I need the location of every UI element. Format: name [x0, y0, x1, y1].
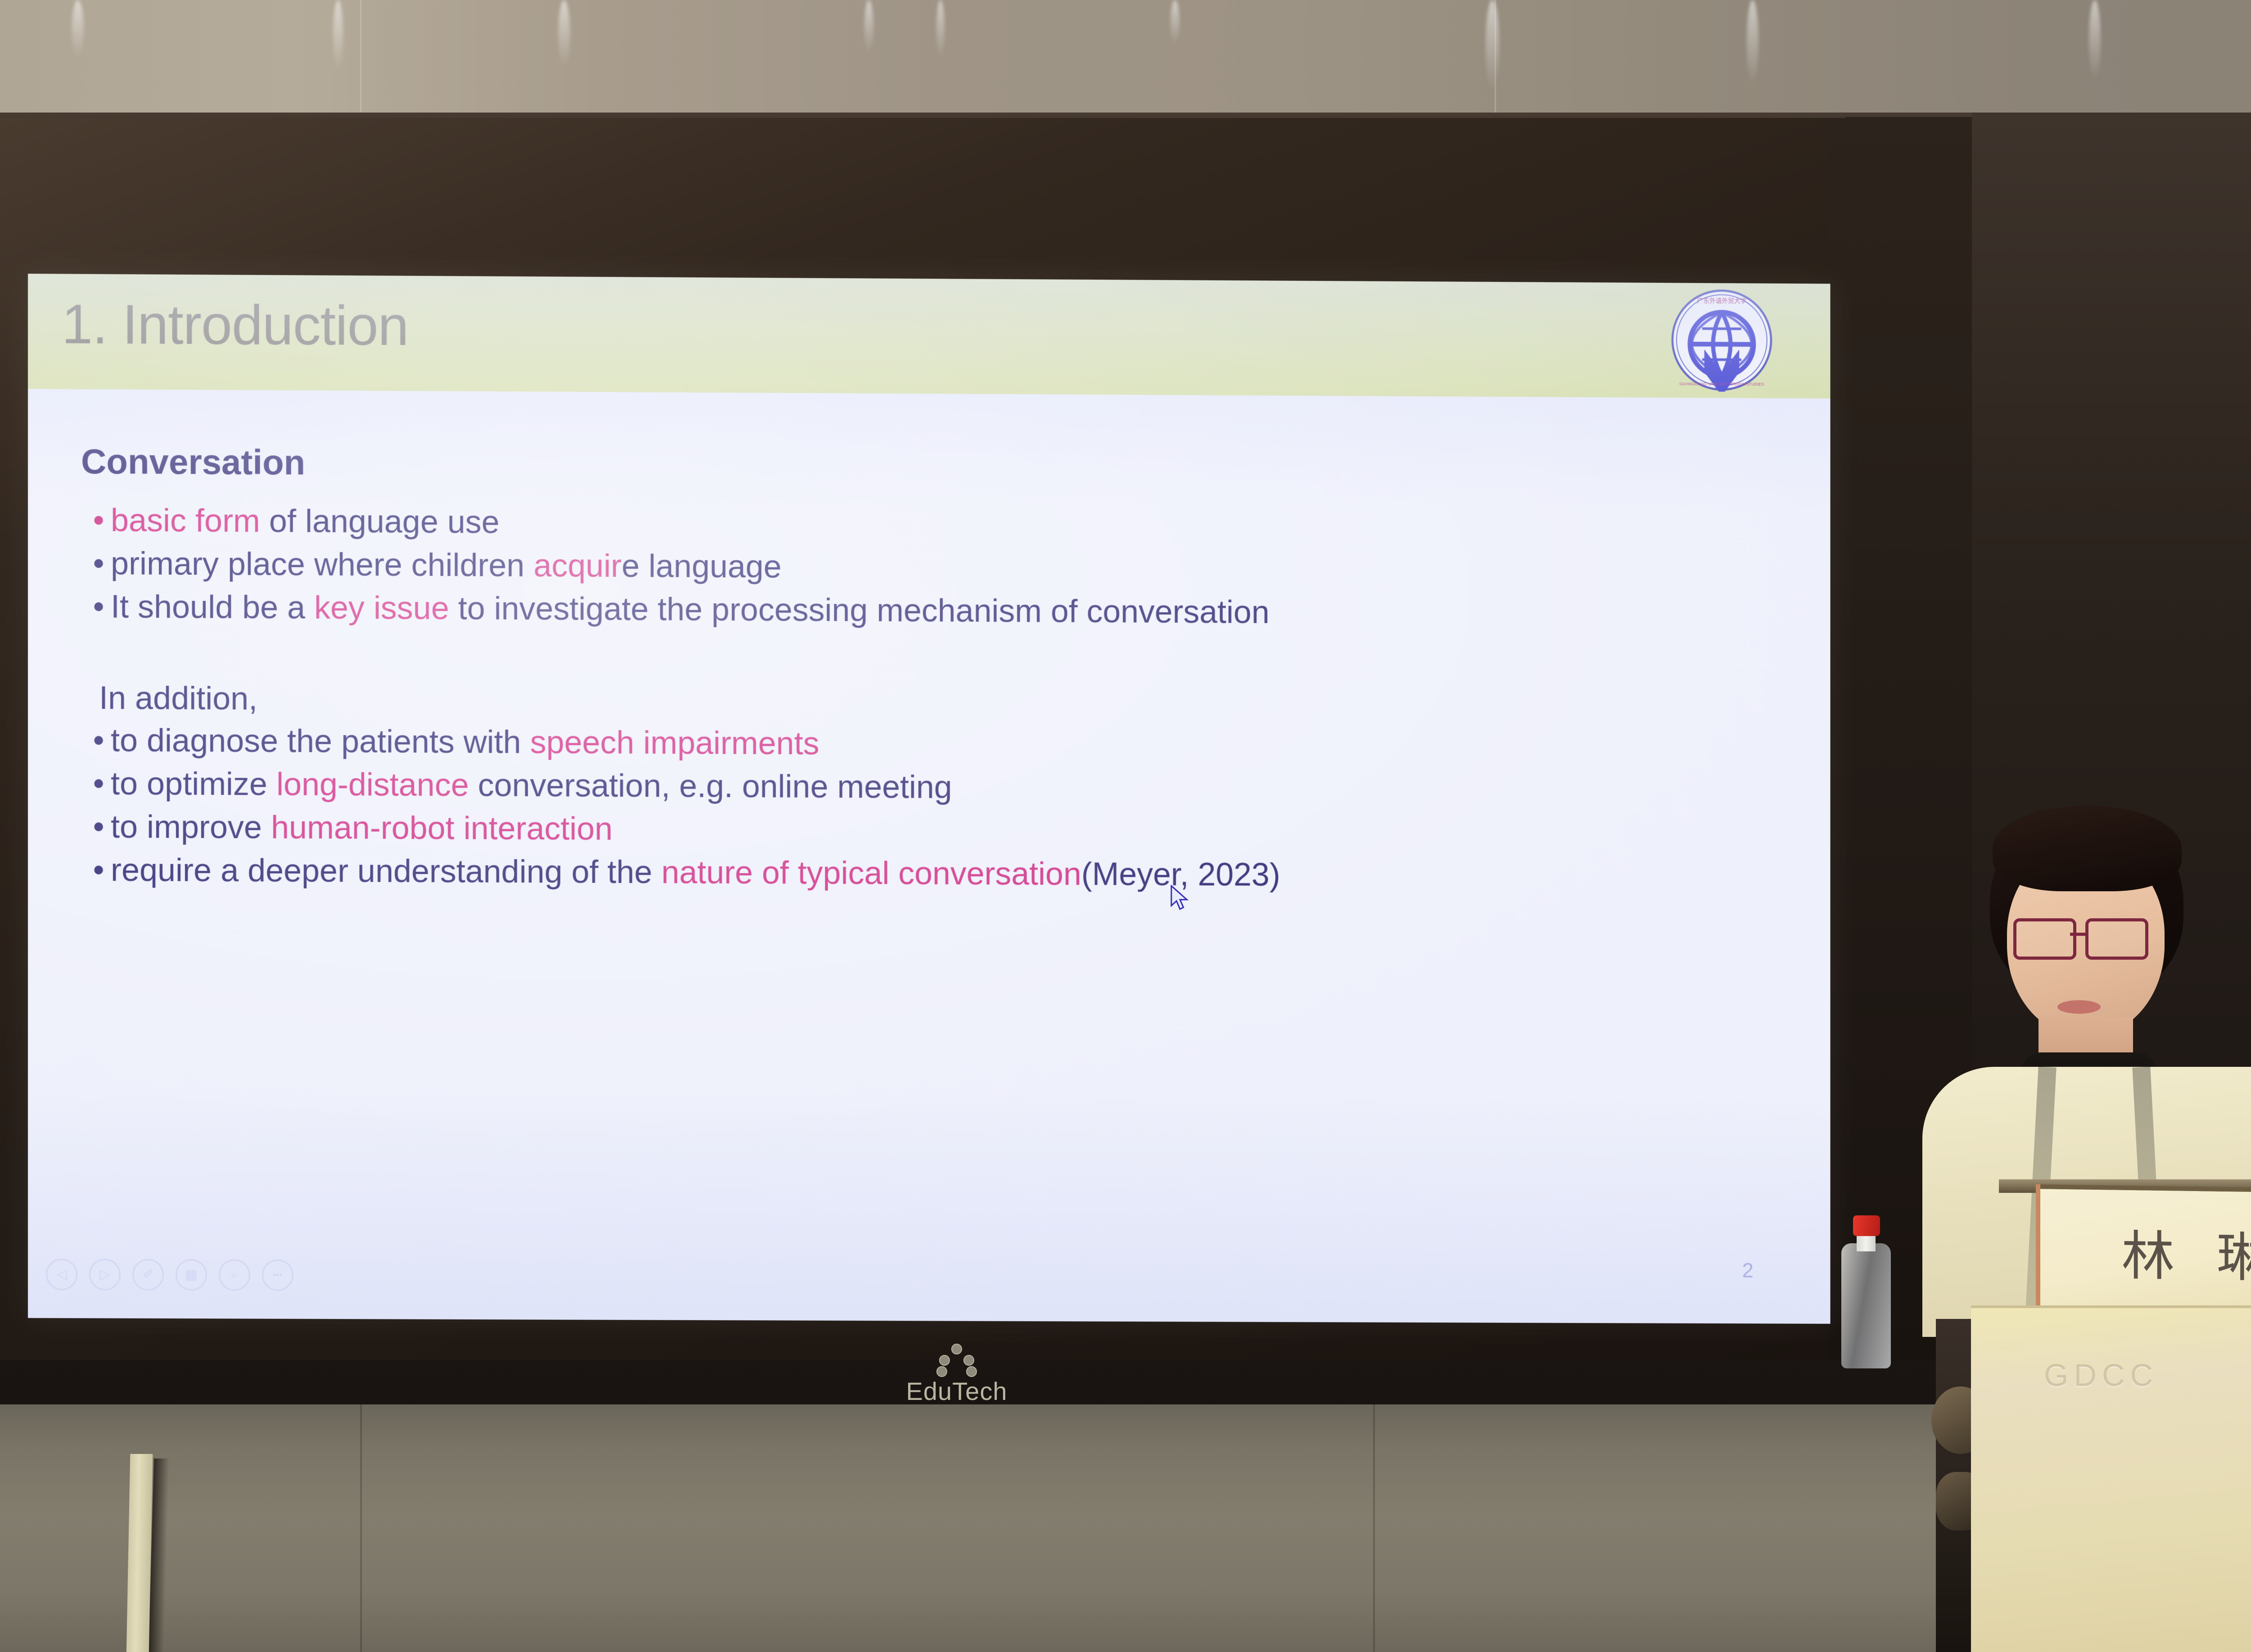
svg-text:GUANGDONG UNIV. OF FOREIGN STU: GUANGDONG UNIV. OF FOREIGN STUDIES: [1679, 382, 1764, 387]
zoom-icon[interactable]: ⌕: [219, 1259, 250, 1291]
edutech-dots-icon: [936, 1344, 977, 1377]
mouse-pointer-icon: [1170, 885, 1190, 913]
bullet-dot-icon: •: [86, 854, 111, 886]
bullet-text: to diagnose the patients with speech imp…: [111, 724, 819, 760]
bullet-group-two: In addition, • to diagnose the patients …: [86, 682, 1790, 904]
water-bottle: [1841, 1215, 1891, 1368]
bullet-item: • to diagnose the patients with speech i…: [86, 724, 1790, 764]
bullet-dot-icon: •: [86, 591, 111, 623]
slide-section-heading: Conversation: [81, 441, 305, 483]
bullet-group-one: • basic form of language use • primary p…: [86, 504, 1790, 642]
bullet-text: basic form of language use: [111, 504, 499, 538]
bullet-item: • basic form of language use: [86, 504, 1790, 545]
eyeglasses-right-lens: [2085, 918, 2148, 960]
more-options-icon[interactable]: •••: [262, 1259, 294, 1291]
slide-number: 2: [1742, 1258, 1754, 1282]
speaker-name: 林 琳: [2109, 1212, 2251, 1291]
eyeglasses-left-lens: [2013, 918, 2076, 960]
slide-body: Conversation • basic form of language us…: [28, 389, 1831, 1324]
svg-text:广东外语外贸大学: 广东外语外贸大学: [1697, 298, 1747, 305]
bullet-dot-icon: •: [86, 767, 111, 800]
stage-vertical-pole: [127, 1454, 153, 1652]
bullet-item: • primary place where children acquire l…: [86, 547, 1790, 588]
slide-header-band: 1. Introduction: [28, 274, 1831, 398]
presenter-toolbar[interactable]: ◁ ▷ ✐ ▦ ⌕ •••: [46, 1259, 294, 1291]
edutech-wordmark: EduTech: [906, 1379, 1008, 1404]
bullet-dot-icon: •: [86, 724, 111, 757]
bullet-dot-icon: •: [86, 547, 111, 580]
slide-overview-icon[interactable]: ▦: [176, 1259, 207, 1291]
bullet-text: to improve human-robot interaction: [111, 811, 613, 845]
stage-lower-wall: [0, 1404, 1972, 1652]
bullet-item: • to optimize long-distance conversation…: [86, 767, 1790, 808]
bullet-text: It should be a key issue to investigate …: [111, 591, 1270, 628]
bullet-text: require a deeper understanding of the na…: [111, 854, 1280, 891]
edutech-venue-logo: EduTech: [882, 1344, 1031, 1416]
bullet-item: • to improve human-robot interaction: [86, 811, 1790, 850]
previous-slide-icon[interactable]: ◁: [46, 1259, 77, 1290]
speaker-nameplate: 林 琳: [2040, 1184, 2251, 1315]
bullet-text: to optimize long-distance conversation, …: [111, 767, 952, 803]
bottle-cap: [1853, 1215, 1880, 1236]
presentation-room-scene: EduTech 1. Introduction: [0, 0, 2251, 1652]
university-seal-icon: 广东外语外贸大学 GUANGDONG UNIV. OF FOREIGN STUD…: [1670, 288, 1773, 392]
in-addition-line: In addition,: [99, 682, 1790, 722]
bullet-text: primary place where children acquire lan…: [111, 547, 782, 583]
lectern-embossed-brand: GDCC: [2044, 1357, 2158, 1393]
bullet-dot-icon: •: [86, 504, 111, 537]
bullet-item: • It should be a key issue to investigat…: [86, 591, 1790, 631]
bullet-dot-icon: •: [86, 811, 111, 843]
pen-icon[interactable]: ✐: [132, 1259, 164, 1291]
bullet-item: • require a deeper understanding of the …: [86, 854, 1790, 894]
slide-title: 1. Introduction: [62, 293, 408, 357]
next-slide-icon[interactable]: ▷: [89, 1259, 121, 1290]
projected-slide[interactable]: 1. Introduction: [28, 274, 1831, 1324]
